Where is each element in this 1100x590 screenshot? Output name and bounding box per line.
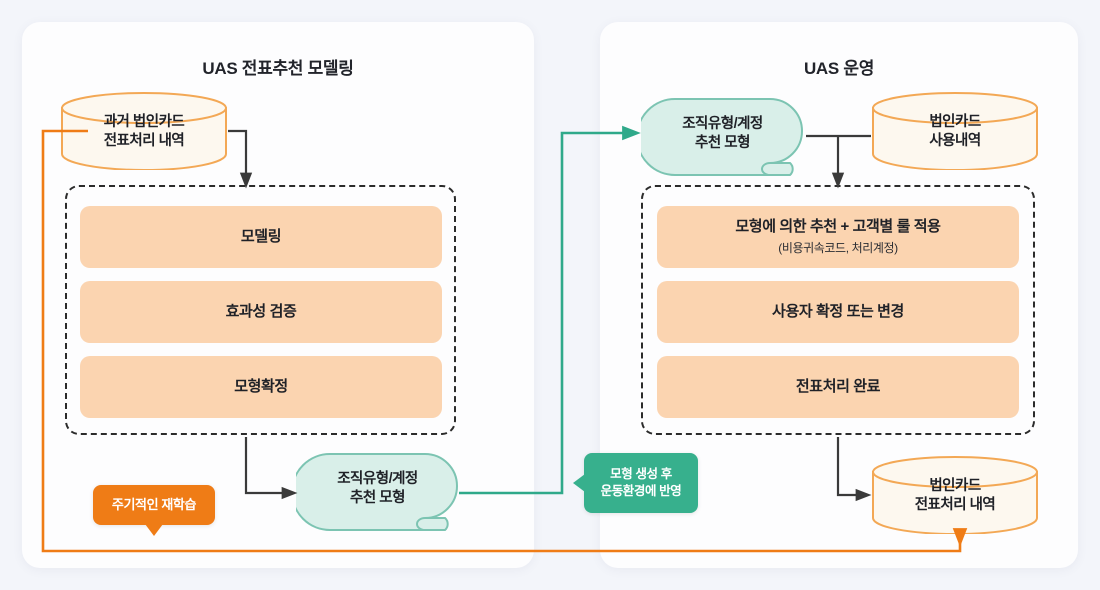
cylinder-corporate-card-usage-history: 법인카드 사용내역 <box>871 92 1039 170</box>
cylinder-corporate-card-voucher-result: 법인카드 전표처리 내역 <box>871 456 1039 534</box>
step-model-finalization-title: 모형확정 <box>234 378 288 397</box>
step-modeling: 모델링 <box>80 206 442 268</box>
cylinder-past-corporate-card-voucher-history: 과거 법인카드 전표처리 내역 <box>60 92 228 170</box>
document-model-right: 조직유형/계정 추천 모형 <box>641 97 804 179</box>
cylinder-result-line2: 전표처리 내역 <box>915 496 996 515</box>
badge-deploy-line1: 모형 생성 후 <box>610 466 672 483</box>
diagram-canvas: UAS 전표추천 모델링 과거 법인카드 전표처리 내역 모델링 효과성 검증 … <box>0 0 1100 590</box>
document-model-output-left: 조직유형/계정 추천 모형 <box>296 452 459 534</box>
cylinder-source-line2: 전표처리 내역 <box>104 132 185 151</box>
doc-right-line2: 추천 모형 <box>695 134 750 153</box>
badge-periodic-retraining-label: 주기적인 재학습 <box>112 496 196 514</box>
badge-deploy-line2: 운동환경에 반영 <box>601 483 682 500</box>
cylinder-source-line1: 과거 법인카드 <box>104 113 185 132</box>
step-voucher-processing-complete-title: 전표처리 완료 <box>796 378 880 397</box>
doc-left-line1: 조직유형/계정 <box>337 470 418 489</box>
document-model-right-label: 조직유형/계정 추천 모형 <box>641 97 804 179</box>
step-model-finalization: 모형확정 <box>80 356 442 418</box>
step-modeling-title: 모델링 <box>241 228 281 247</box>
cylinder-usage-label: 법인카드 사용내역 <box>871 92 1039 170</box>
step-effectiveness-validation: 효과성 검증 <box>80 281 442 343</box>
step-voucher-processing-complete: 전표처리 완료 <box>657 356 1019 418</box>
badge-periodic-retraining: 주기적인 재학습 <box>93 485 215 525</box>
badge-deploy-to-operation: 모형 생성 후 운동환경에 반영 <box>584 453 698 513</box>
step-model-recommendation-rules-sub: (비용귀속코드, 처리계정) <box>778 239 897 256</box>
left-panel-title: UAS 전표추천 모델링 <box>22 54 534 79</box>
cylinder-result-label: 법인카드 전표처리 내역 <box>871 456 1039 534</box>
step-effectiveness-validation-title: 효과성 검증 <box>226 303 297 322</box>
step-model-recommendation-rules-title: 모형에 의한 추천 + 고객별 룰 적용 <box>735 218 940 237</box>
doc-left-line2: 추천 모형 <box>350 489 405 508</box>
doc-right-line1: 조직유형/계정 <box>682 115 763 134</box>
cylinder-usage-line2: 사용내역 <box>929 132 980 151</box>
step-model-recommendation-rules: 모형에 의한 추천 + 고객별 룰 적용 (비용귀속코드, 처리계정) <box>657 206 1019 268</box>
cylinder-source-label: 과거 법인카드 전표처리 내역 <box>60 92 228 170</box>
step-user-confirm-or-change: 사용자 확정 또는 변경 <box>657 281 1019 343</box>
document-model-output-left-label: 조직유형/계정 추천 모형 <box>296 452 459 534</box>
step-user-confirm-or-change-title: 사용자 확정 또는 변경 <box>772 303 904 322</box>
cylinder-result-line1: 법인카드 <box>929 477 980 496</box>
right-panel-title: UAS 운영 <box>600 54 1078 79</box>
cylinder-usage-line1: 법인카드 <box>929 113 980 132</box>
